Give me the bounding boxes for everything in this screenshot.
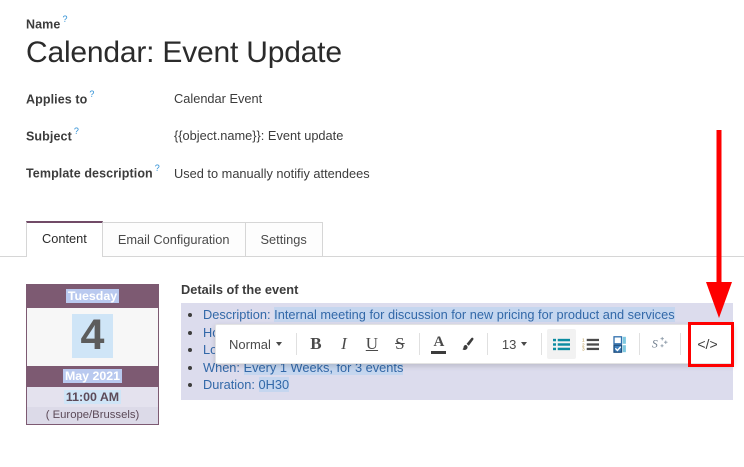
template-description-value[interactable]: Used to manually notifiy attendees — [174, 166, 370, 181]
calendar-card: Tuesday 4 May 2021 11:00 AM ( Europe/Bru… — [26, 284, 159, 425]
bulleted-list-button[interactable] — [547, 329, 576, 359]
applies-to-help-icon[interactable]: ? — [89, 89, 94, 99]
calendar-time-text: 11:00 AM — [64, 390, 121, 404]
font-color-button[interactable]: A — [425, 329, 453, 359]
duration-label: Duration: — [203, 377, 255, 392]
underline-button[interactable]: U — [358, 329, 386, 359]
list-item-description[interactable]: Description: Internal meeting for discus… — [203, 306, 733, 324]
subject-help-icon[interactable]: ? — [74, 126, 79, 136]
applies-to-label: Applies to — [26, 92, 87, 106]
applies-to-value[interactable]: Calendar Event — [174, 91, 262, 106]
toolbar-separator — [296, 333, 297, 355]
subject-value[interactable]: {{object.name}}: Event update — [174, 128, 343, 143]
paragraph-style-dropdown[interactable]: Normal — [220, 329, 291, 359]
svg-text:S: S — [652, 339, 658, 351]
chevron-down-icon — [276, 342, 282, 346]
calendar-day: 4 — [72, 314, 114, 358]
applies-to-row: Applies to? Calendar Event — [26, 89, 744, 108]
duration-value: 0H30 — [259, 377, 290, 392]
calendar-weekday-text: Tuesday — [66, 289, 119, 303]
font-color-swatch — [431, 351, 446, 354]
calendar-month-year-text: May 2021 — [63, 369, 122, 383]
template-description-label: Template description — [26, 167, 153, 181]
calendar-day-wrap: 4 — [27, 308, 158, 366]
numbered-list-icon: 1 2 3 — [582, 337, 599, 352]
applies-to-label-cell: Applies to? — [26, 89, 174, 108]
paragraph-style-label: Normal — [229, 337, 271, 352]
remove-format-icon: S — [651, 336, 669, 352]
strikethrough-button[interactable]: S — [386, 329, 414, 359]
name-field-group: Name? Calendar: Event Update — [26, 14, 744, 71]
calendar-month-year: May 2021 — [27, 366, 158, 387]
details-heading: Details of the event — [181, 282, 744, 297]
remove-format-button[interactable]: S — [645, 329, 675, 359]
name-help-icon[interactable]: ? — [62, 14, 67, 24]
bulleted-list-icon — [553, 337, 570, 352]
calendar-weekday: Tuesday — [27, 285, 158, 308]
italic-button[interactable]: I — [330, 329, 358, 359]
tab-settings[interactable]: Settings — [245, 222, 323, 256]
page-title[interactable]: Calendar: Event Update — [26, 36, 342, 69]
font-color-glyph: A — [433, 335, 444, 350]
template-description-label-cell: Template description? — [26, 163, 174, 182]
background-color-button[interactable] — [453, 329, 482, 359]
subject-label-cell: Subject? — [26, 126, 174, 145]
name-label: Name — [26, 17, 60, 31]
calendar-time: 11:00 AM — [27, 387, 158, 407]
description-value: Internal meeting for discussion for new … — [274, 307, 674, 322]
bold-button[interactable]: B — [302, 329, 330, 359]
toolbar-separator — [487, 333, 488, 355]
subject-label: Subject — [26, 129, 72, 143]
template-description-row: Template description? Used to manually n… — [26, 163, 744, 182]
subject-row: Subject? {{object.name}}: Event update — [26, 126, 744, 145]
chevron-down-icon — [521, 342, 527, 346]
code-view-button[interactable]: </> — [686, 329, 728, 359]
toolbar-separator — [639, 333, 640, 355]
toolbar-separator — [541, 333, 542, 355]
description-label: Description: — [203, 307, 271, 322]
tab-bar: Content Email Configuration Settings — [0, 222, 744, 257]
tab-email-configuration[interactable]: Email Configuration — [102, 222, 246, 256]
checklist-button[interactable] — [605, 329, 634, 359]
editor-floating-toolbar: Normal B I U S A 13 1 — [215, 324, 734, 364]
tab-content[interactable]: Content — [26, 221, 103, 256]
font-color-icon: A — [431, 335, 446, 354]
numbered-list-button[interactable]: 1 2 3 — [576, 329, 605, 359]
template-description-help-icon[interactable]: ? — [155, 163, 160, 173]
svg-text:3: 3 — [582, 346, 585, 351]
list-item-duration[interactable]: Duration: 0H30 — [203, 376, 733, 394]
record-form: Name? Calendar: Event Update Applies to?… — [0, 0, 744, 183]
checklist-icon — [611, 336, 628, 353]
brush-icon — [459, 336, 476, 353]
toolbar-separator — [419, 333, 420, 355]
calendar-timezone: ( Europe/Brussels) — [27, 407, 158, 424]
toolbar-separator — [680, 333, 681, 355]
font-size-label: 13 — [502, 337, 516, 352]
font-size-dropdown[interactable]: 13 — [493, 329, 536, 359]
